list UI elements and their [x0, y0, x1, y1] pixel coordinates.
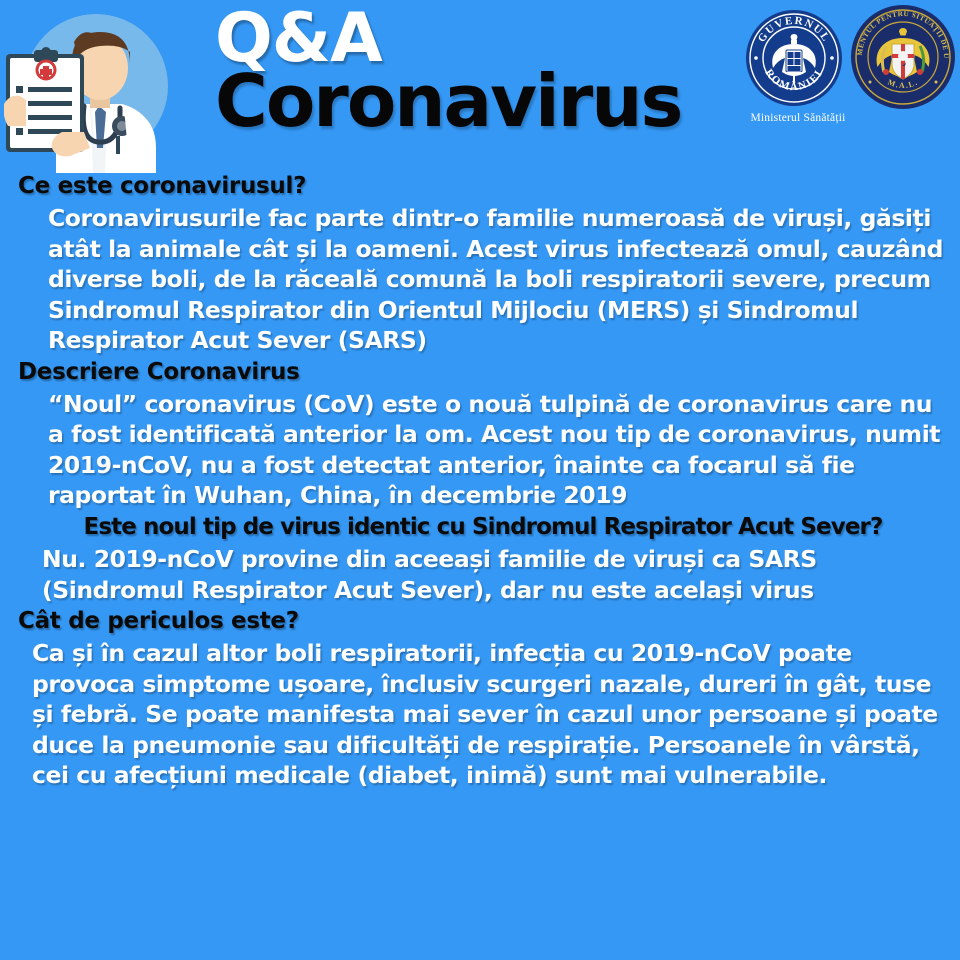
answer-text: Nu. 2019-nCoV provine din aceeași famili… — [18, 541, 952, 605]
coronavirus-title: Coronavirus — [215, 65, 725, 137]
answer-text: Ca și în cazul altor boli respiratorii, … — [18, 635, 952, 791]
guvernul-romaniei-seal: GUVERNUL ROMÂNIEI — [744, 8, 844, 113]
question-heading: Cât de periculos este? — [18, 607, 952, 635]
question-heading: Este noul tip de virus identic cu Sindro… — [18, 513, 952, 541]
logos-container: GUVERNUL ROMÂNIEI — [744, 4, 956, 144]
qa-section-ce-este-coronavirusul: Ce este coronavirusul? Coronavirusurile … — [18, 172, 952, 356]
departamentul-situatii-urgenta-seal: DEPARTAMENTUL PENTRU SITUAȚII DE URGENȚĂ… — [850, 4, 956, 115]
question-heading: Ce este coronavirusul? — [18, 172, 952, 200]
qa-section-cat-de-periculos-este: Cât de periculos este? Ca și în cazul al… — [18, 607, 952, 791]
doctor-with-clipboard-illustration — [4, 8, 176, 173]
qa-section-virus-identic-cu-sars: Este noul tip de virus identic cu Sindro… — [18, 513, 952, 605]
header: Q&A Coronavirus GUVERNUL ROMÂNIEI — [0, 0, 960, 172]
title-block: Q&A Coronavirus — [215, 6, 725, 137]
ministerul-sanatatii-caption: Ministerul Sănătății — [744, 112, 852, 124]
answer-text: Coronavirusurile fac parte dintr-o famil… — [18, 200, 952, 356]
qa-content: Ce este coronavirusul? Coronavirusurile … — [0, 172, 960, 791]
question-heading: Descriere Coronavirus — [18, 358, 952, 386]
qa-section-descriere-coronavirus: Descriere Coronavirus “Noul” coronavirus… — [18, 358, 952, 511]
answer-text: “Noul” coronavirus (CoV) este o nouă tul… — [18, 386, 952, 511]
